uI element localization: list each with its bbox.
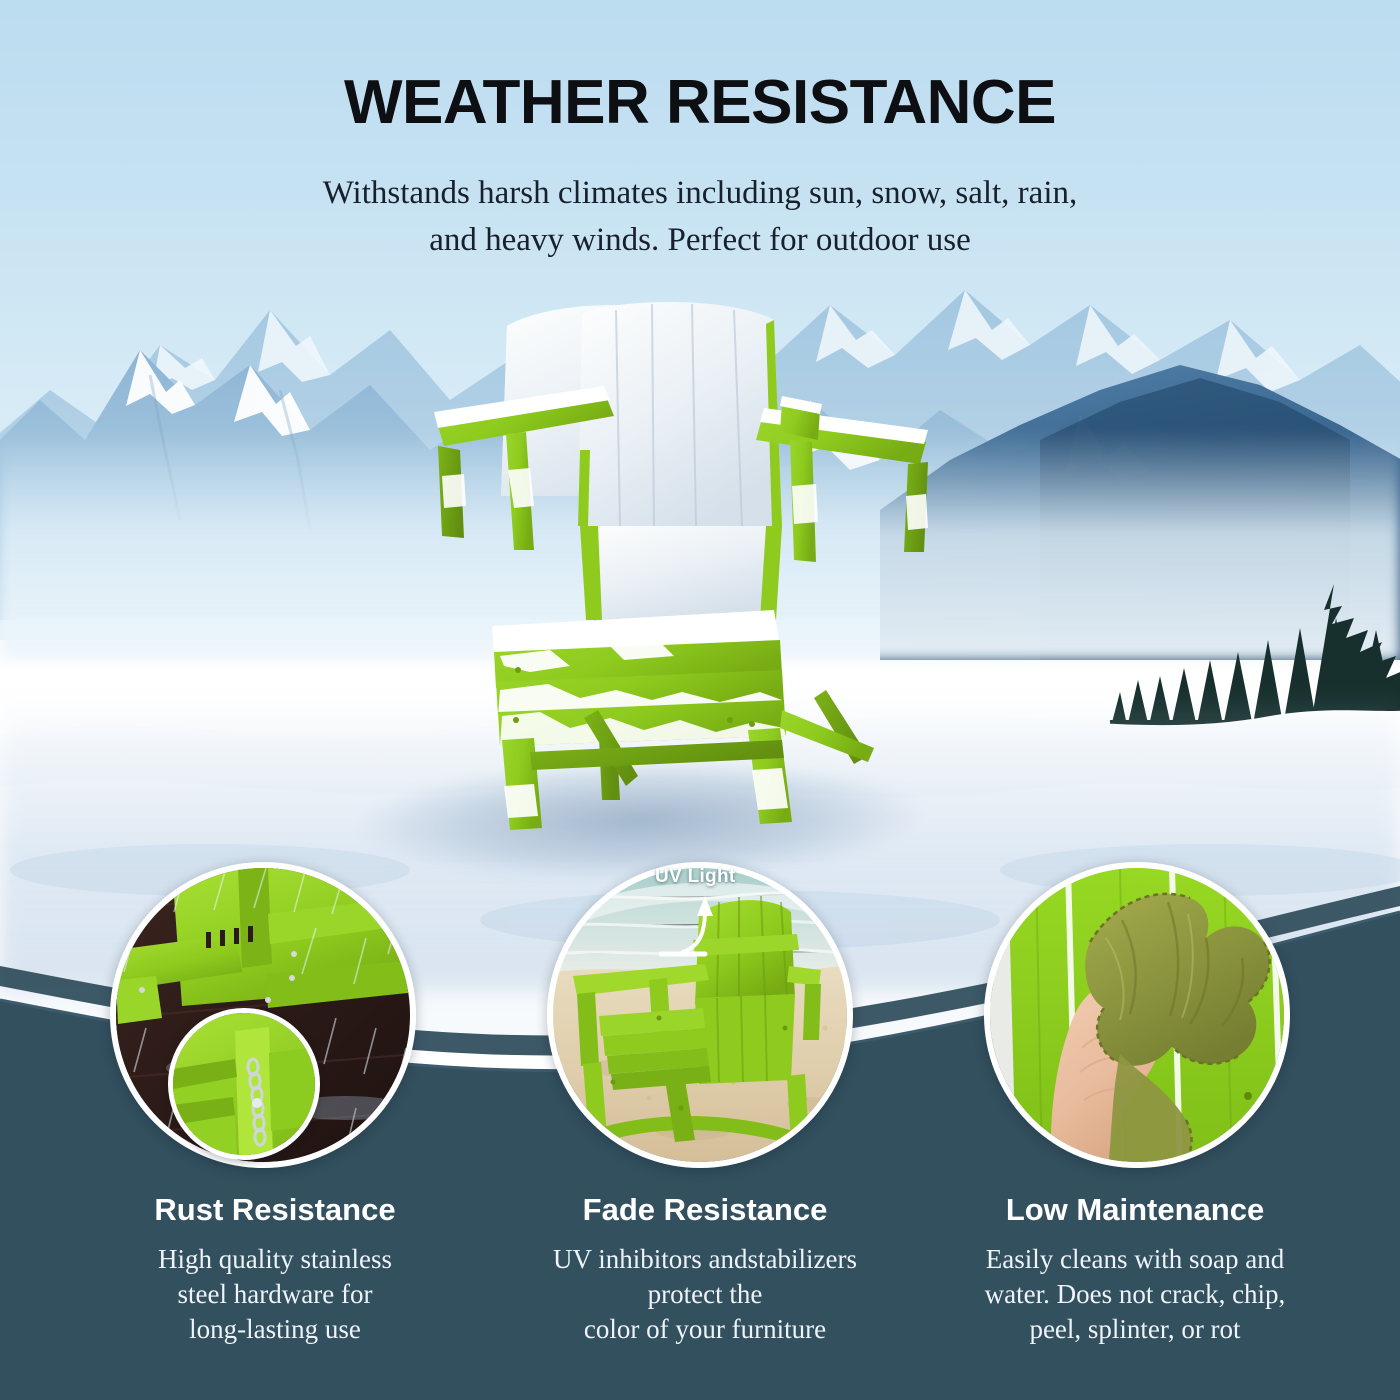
- low-maintenance-image: [984, 862, 1290, 1168]
- feature-body-line-2: water. Does not crack, chip,: [985, 1279, 1286, 1309]
- product-infographic: WEATHER RESISTANCE Withstands harsh clim…: [0, 0, 1400, 1400]
- feature-body-line-2: protect the: [648, 1279, 763, 1309]
- subtitle-line-1: Withstands harsh climates including sun,…: [323, 175, 1078, 211]
- page-title: WEATHER RESISTANCE: [0, 72, 1400, 134]
- feature-body-fade-resistance: UV inhibitors andstabilizers protect the…: [505, 1242, 905, 1347]
- feature-body-line-2: steel hardware for: [178, 1279, 373, 1309]
- feature-body-line-3: color of your furniture: [584, 1314, 826, 1344]
- feature-title-fade-resistance: Fade Resistance: [505, 1192, 905, 1228]
- feature-body-line-3: long-lasting use: [189, 1314, 361, 1344]
- feature-column-rust-resistance: Rust Resistance High quality stainless s…: [80, 1192, 470, 1347]
- feature-body-rust-resistance: High quality stainless steel hardware fo…: [80, 1242, 470, 1347]
- page-subtitle: Withstands harsh climates including sun,…: [230, 170, 1170, 264]
- fade-resistance-image: [547, 862, 853, 1168]
- subtitle-line-2: and heavy winds. Perfect for outdoor use: [429, 222, 971, 258]
- feature-body-line-1: Easily cleans with soap and: [986, 1244, 1284, 1274]
- stainless-chain-inset-image: [168, 1008, 320, 1160]
- feature-body-line-1: High quality stainless: [158, 1244, 392, 1274]
- feature-body-low-maintenance: Easily cleans with soap and water. Does …: [935, 1242, 1335, 1347]
- feature-body-line-3: peel, splinter, or rot: [1029, 1314, 1240, 1344]
- feature-column-fade-resistance: Fade Resistance UV inhibitors andstabili…: [505, 1192, 905, 1347]
- feature-title-low-maintenance: Low Maintenance: [935, 1192, 1335, 1228]
- hero-chair-image: [430, 300, 950, 830]
- feature-column-low-maintenance: Low Maintenance Easily cleans with soap …: [935, 1192, 1335, 1347]
- feature-body-line-1: UV inhibitors andstabilizers: [553, 1244, 857, 1274]
- feature-title-rust-resistance: Rust Resistance: [80, 1192, 470, 1228]
- uv-light-annotation: UV Light: [655, 866, 736, 888]
- hero-scene: WEATHER RESISTANCE Withstands harsh clim…: [0, 0, 1400, 1400]
